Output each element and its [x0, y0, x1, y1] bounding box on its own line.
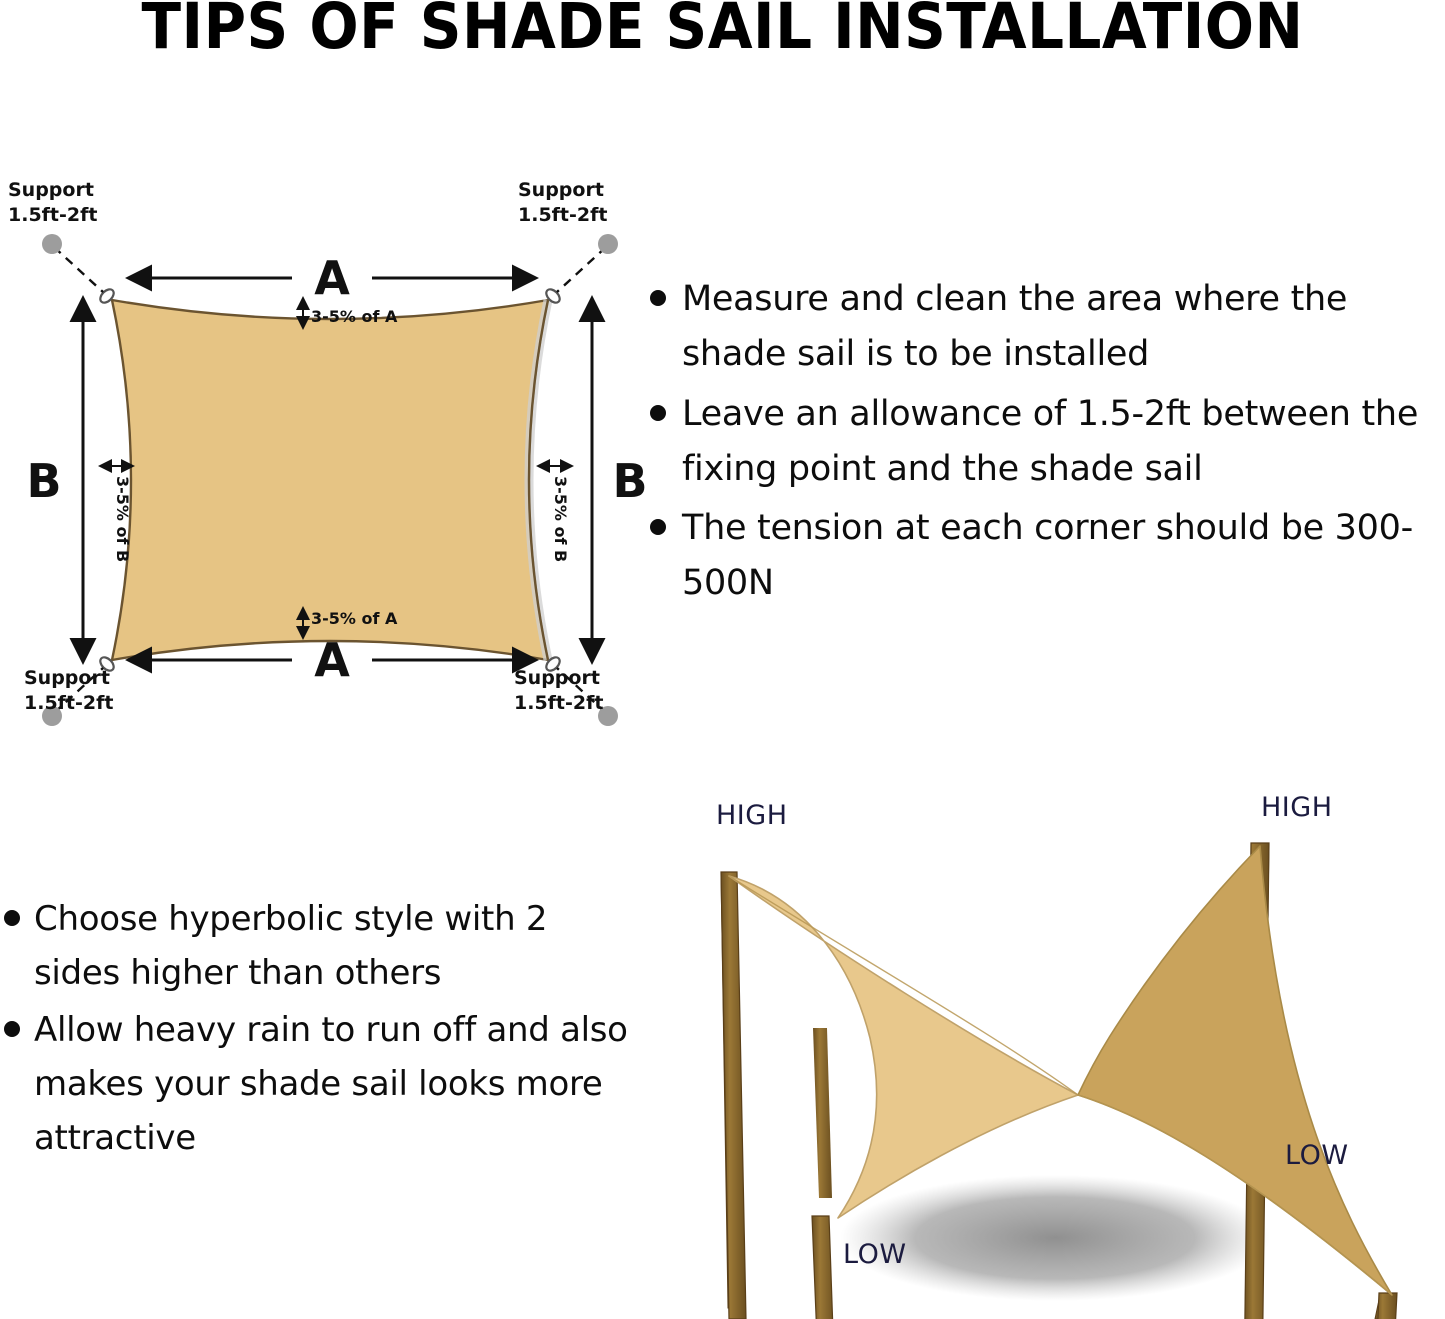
sail-lobe-light: [729, 876, 1078, 1218]
bullet-dot-icon: [650, 519, 666, 535]
support-dot-top-left: [42, 234, 62, 254]
list-item-text: Measure and clean the area where the sha…: [682, 272, 1445, 383]
support-label-line1: Support: [8, 179, 94, 201]
dimension-letter-left: B: [26, 454, 61, 508]
list-item: The tension at each corner should be 300…: [650, 501, 1445, 612]
bullet-dot-icon: [650, 405, 666, 421]
bullet-dot-icon: [4, 1021, 20, 1037]
list-item-text: Choose hyperbolic style with 2 sides hig…: [34, 893, 634, 1000]
pole-low-left-shaft2: [812, 1216, 835, 1319]
list-item: Allow heavy rain to run off and also mak…: [4, 1004, 634, 1165]
support-label-bottom-right: Support 1.5ft-2ft: [514, 667, 603, 714]
page-title: TIPS OF SHADE SAIL INSTALLATION: [58, 0, 1387, 60]
support-label-top-right: Support 1.5ft-2ft: [518, 179, 607, 226]
support-label-line2: 1.5ft-2ft: [24, 692, 113, 714]
support-label-line2: 1.5ft-2ft: [518, 204, 607, 226]
curvature-label-left: 3-5% of B: [113, 476, 132, 562]
support-label-bottom-left: Support 1.5ft-2ft: [24, 667, 113, 714]
list-item-text: The tension at each corner should be 300…: [682, 501, 1445, 612]
bullet-dot-icon: [650, 290, 666, 306]
label-high-left: HIGH: [716, 800, 788, 831]
dimension-letter-top: A: [314, 251, 350, 305]
label-high-right: HIGH: [1261, 792, 1333, 823]
installation-tips-list-top: Measure and clean the area where the sha…: [650, 272, 1445, 616]
list-item: Leave an allowance of 1.5-2ft between th…: [650, 387, 1445, 498]
support-label-top-left: Support 1.5ft-2ft: [8, 179, 97, 226]
list-item: Measure and clean the area where the sha…: [650, 272, 1445, 383]
pole-low-left-shaft: [812, 1200, 834, 1216]
list-item-text: Leave an allowance of 1.5-2ft between th…: [682, 387, 1445, 498]
support-label-line1: Support: [24, 667, 110, 689]
list-item: Choose hyperbolic style with 2 sides hig…: [4, 893, 634, 1000]
hyperbolic-sail-illustration: HIGH HIGH LOW LOW: [680, 788, 1445, 1319]
list-item-text: Allow heavy rain to run off and also mak…: [34, 1004, 634, 1165]
support-label-line1: Support: [518, 179, 604, 201]
bullet-dot-icon: [4, 910, 20, 926]
label-low-left: LOW: [843, 1239, 907, 1270]
support-label-line2: 1.5ft-2ft: [514, 692, 603, 714]
dimension-letter-bottom: A: [314, 633, 350, 687]
installation-tips-list-bottom: Choose hyperbolic style with 2 sides hig…: [4, 893, 634, 1170]
label-low-right-text: LOW: [1285, 1140, 1349, 1171]
pole-low-left: [813, 1028, 832, 1198]
curvature-label-right: 3-5% of B: [551, 476, 570, 562]
support-dot-top-right: [598, 234, 618, 254]
pole-low-right-shaft: [1375, 1293, 1397, 1319]
ground-shadow: [840, 1175, 1270, 1301]
support-label-line2: 1.5ft-2ft: [8, 204, 97, 226]
curvature-label-bottom: 3-5% of A: [311, 609, 398, 628]
rectangular-sail-diagram: Support 1.5ft-2ft Support 1.5ft-2ft Supp…: [0, 170, 660, 730]
support-label-line1: Support: [514, 667, 600, 689]
sail-shape: [112, 300, 548, 660]
pole-high-left-shaft: [721, 872, 746, 1319]
dimension-letter-right: B: [612, 454, 647, 508]
curvature-label-top: 3-5% of A: [311, 307, 398, 326]
